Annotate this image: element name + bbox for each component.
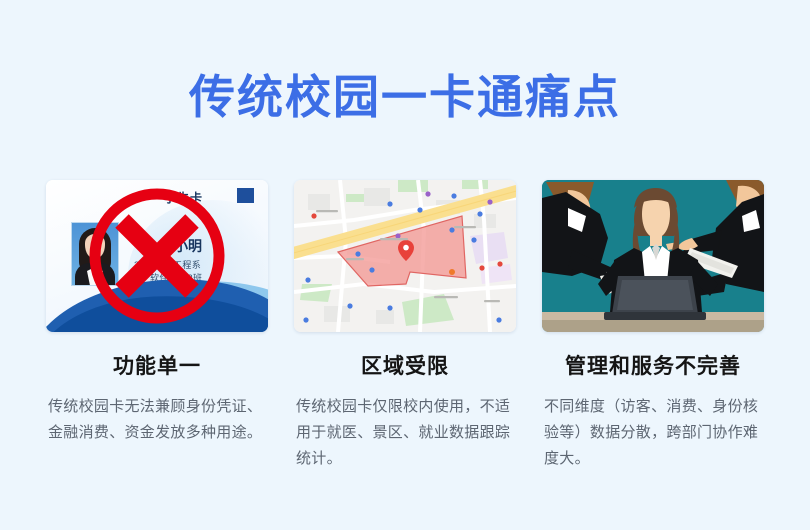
page-title: 传统校园一卡通痛点 [0, 72, 810, 123]
office-illustration [542, 180, 764, 332]
card-description: 传统校园卡仅限校内使用，不适用于就医、景区、就业数据跟踪统计。 [296, 394, 514, 471]
card-heading: 管理和服务不完善 [565, 350, 741, 380]
laptop [604, 276, 706, 320]
map-illustration [294, 180, 516, 332]
id-card-logo-icon [237, 188, 254, 203]
card-description: 传统校园卡无法兼顾身份凭证、金融消费、资金发放多种用途。 [48, 394, 266, 446]
student-id-card-thumbnail: 学生卡 小明 23级信息工程系 软件技术2班 [46, 180, 268, 332]
pain-point-card-area-limited: 区域受限 传统校园卡仅限校内使用，不适用于就医、景区、就业数据跟踪统计。 [294, 180, 516, 471]
pain-point-card-management-service: 管理和服务不完善 不同维度（访客、消费、身份核验等）数据分散，跨部门协作难度大。 [542, 180, 764, 471]
pain-point-card-function-single: 学生卡 小明 23级信息工程系 软件技术2班 [46, 180, 268, 471]
card-heading: 功能单一 [113, 350, 201, 380]
card-heading: 区域受限 [361, 350, 449, 380]
office-graphic [542, 180, 764, 332]
map-graphic [294, 180, 516, 332]
office-stress-thumbnail [542, 180, 764, 332]
red-prohibition-cross-icon [82, 181, 232, 331]
campus-map-thumbnail [294, 180, 516, 332]
pain-point-card-list: 学生卡 小明 23级信息工程系 软件技术2班 [0, 180, 810, 471]
card-description: 不同维度（访客、消费、身份核验等）数据分散，跨部门协作难度大。 [544, 394, 762, 471]
